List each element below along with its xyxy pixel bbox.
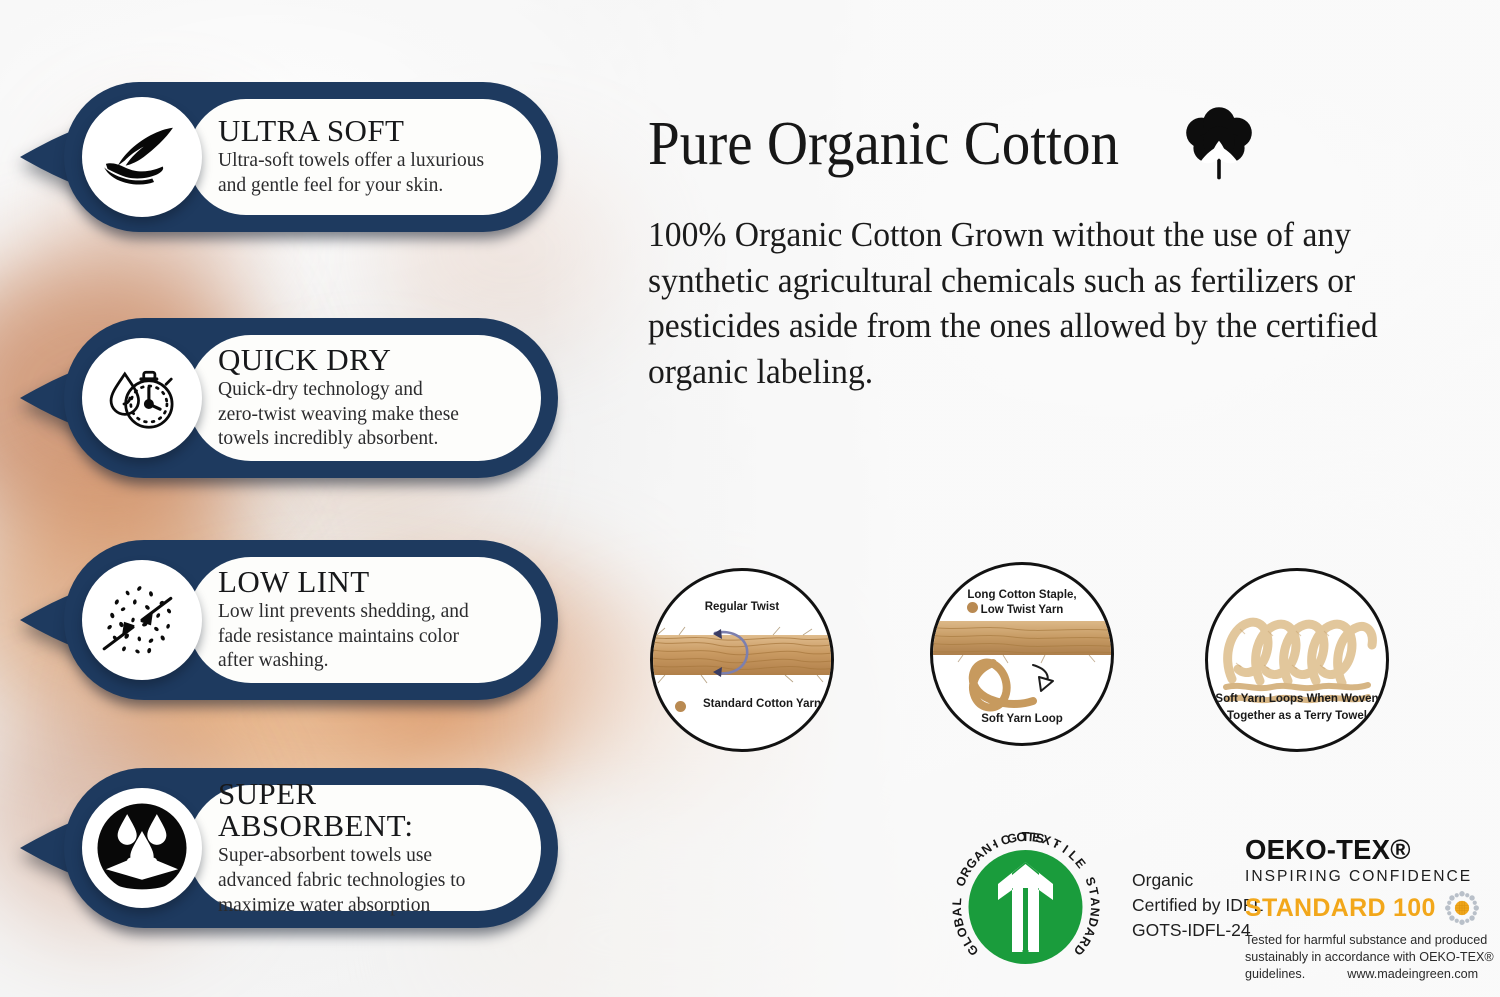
oekotex-standard: STANDARD 100 <box>1245 896 1436 921</box>
feature-description: Quick-dry technology and zero-twist weav… <box>218 378 507 452</box>
low-twist-yarn-diagram: Long Cotton Staple, Low Twist Yarn <box>930 562 1114 746</box>
yarn-bottom-label-line2: Together as a Terry Towel <box>1208 710 1386 724</box>
certification-group: GLOBAL ORGANIC TEXTILE STANDARD· GOTS · … <box>640 810 1500 997</box>
oekotex-fine-print: Tested for harmful substance and produce… <box>1245 932 1500 982</box>
card-text-panel: SUPER ABSORBENT: Super-absorbent towels … <box>188 785 541 911</box>
feature-card-list: ULTRA SOFT Ultra-soft towels offer a lux… <box>0 0 620 997</box>
oekotex-logo: OEKO-TEX® INSPIRING CONFIDENCE STANDARD … <box>1245 836 1500 982</box>
feather-in-hand-icon <box>82 97 202 217</box>
card-text-panel: ULTRA SOFT Ultra-soft towels offer a lux… <box>188 99 541 215</box>
feature-description: Low lint prevents shedding, and fade res… <box>218 600 507 674</box>
feature-description: Ultra-soft towels offer a luxurious and … <box>218 149 507 199</box>
feature-card-super-absorbent[interactable]: SUPER ABSORBENT: Super-absorbent towels … <box>18 768 558 928</box>
yarn-bottom-label: Soft Yarn Loop <box>933 713 1111 727</box>
yarn-diagram-group: Regular Twist <box>640 560 1500 760</box>
yarn-bottom-label-line1: Soft Yarn Loops When Woven <box>1208 693 1386 707</box>
feature-title: QUICK DRY <box>218 344 507 376</box>
terry-loops-diagram: Soft Yarn Loops When Woven Together as a… <box>1205 568 1389 752</box>
feature-title: SUPER ABSORBENT: <box>218 778 507 842</box>
feature-title: LOW LINT <box>218 566 507 598</box>
infographic-canvas: ULTRA SOFT Ultra-soft towels offer a lux… <box>0 0 1500 997</box>
madeingreen-url[interactable]: www.madeingreen.com <box>1347 966 1478 983</box>
water-drop-stopwatch-icon <box>82 338 202 458</box>
page-title: Pure Organic Cotton <box>648 113 1119 175</box>
oekotex-tagline: INSPIRING CONFIDENCE <box>1245 869 1500 885</box>
feature-description: Super-absorbent towels use advanced fabr… <box>218 844 507 918</box>
gots-logo: GLOBAL ORGANIC TEXTILE STANDARD· GOTS · <box>938 818 1113 993</box>
feature-card-quick-dry[interactable]: QUICK DRY Quick-dry technology and zero-… <box>18 318 558 478</box>
hero-description: 100% Organic Cotton Grown without the us… <box>648 212 1443 394</box>
gots-ring-text: GLOBAL ORGANIC TEXTILE STANDARD· GOTS · <box>938 818 1113 993</box>
feature-title: ULTRA SOFT <box>218 115 507 147</box>
cotton-boll-icon <box>1178 104 1260 184</box>
absorbent-fabric-droplets-icon <box>82 788 202 908</box>
headline-row: Pure Organic Cotton <box>648 104 1260 184</box>
feature-card-low-lint[interactable]: LOW LINT Low lint prevents shedding, and… <box>18 540 558 700</box>
card-text-panel: QUICK DRY Quick-dry technology and zero-… <box>188 335 541 461</box>
card-text-panel: LOW LINT Low lint prevents shedding, and… <box>188 557 541 683</box>
lint-particles-arrows-icon <box>82 560 202 680</box>
oekotex-brand: OEKO-TEX® <box>1245 836 1500 864</box>
regular-twist-diagram: Regular Twist <box>650 568 834 752</box>
right-column: Pure Organic Cotton 100% Organic Cotton … <box>640 0 1500 997</box>
made-in-green-sun-icon <box>1444 890 1480 926</box>
yarn-bottom-label: Standard Cotton Yarn <box>663 698 833 712</box>
feature-card-ultra-soft[interactable]: ULTRA SOFT Ultra-soft towels offer a lux… <box>18 82 558 232</box>
